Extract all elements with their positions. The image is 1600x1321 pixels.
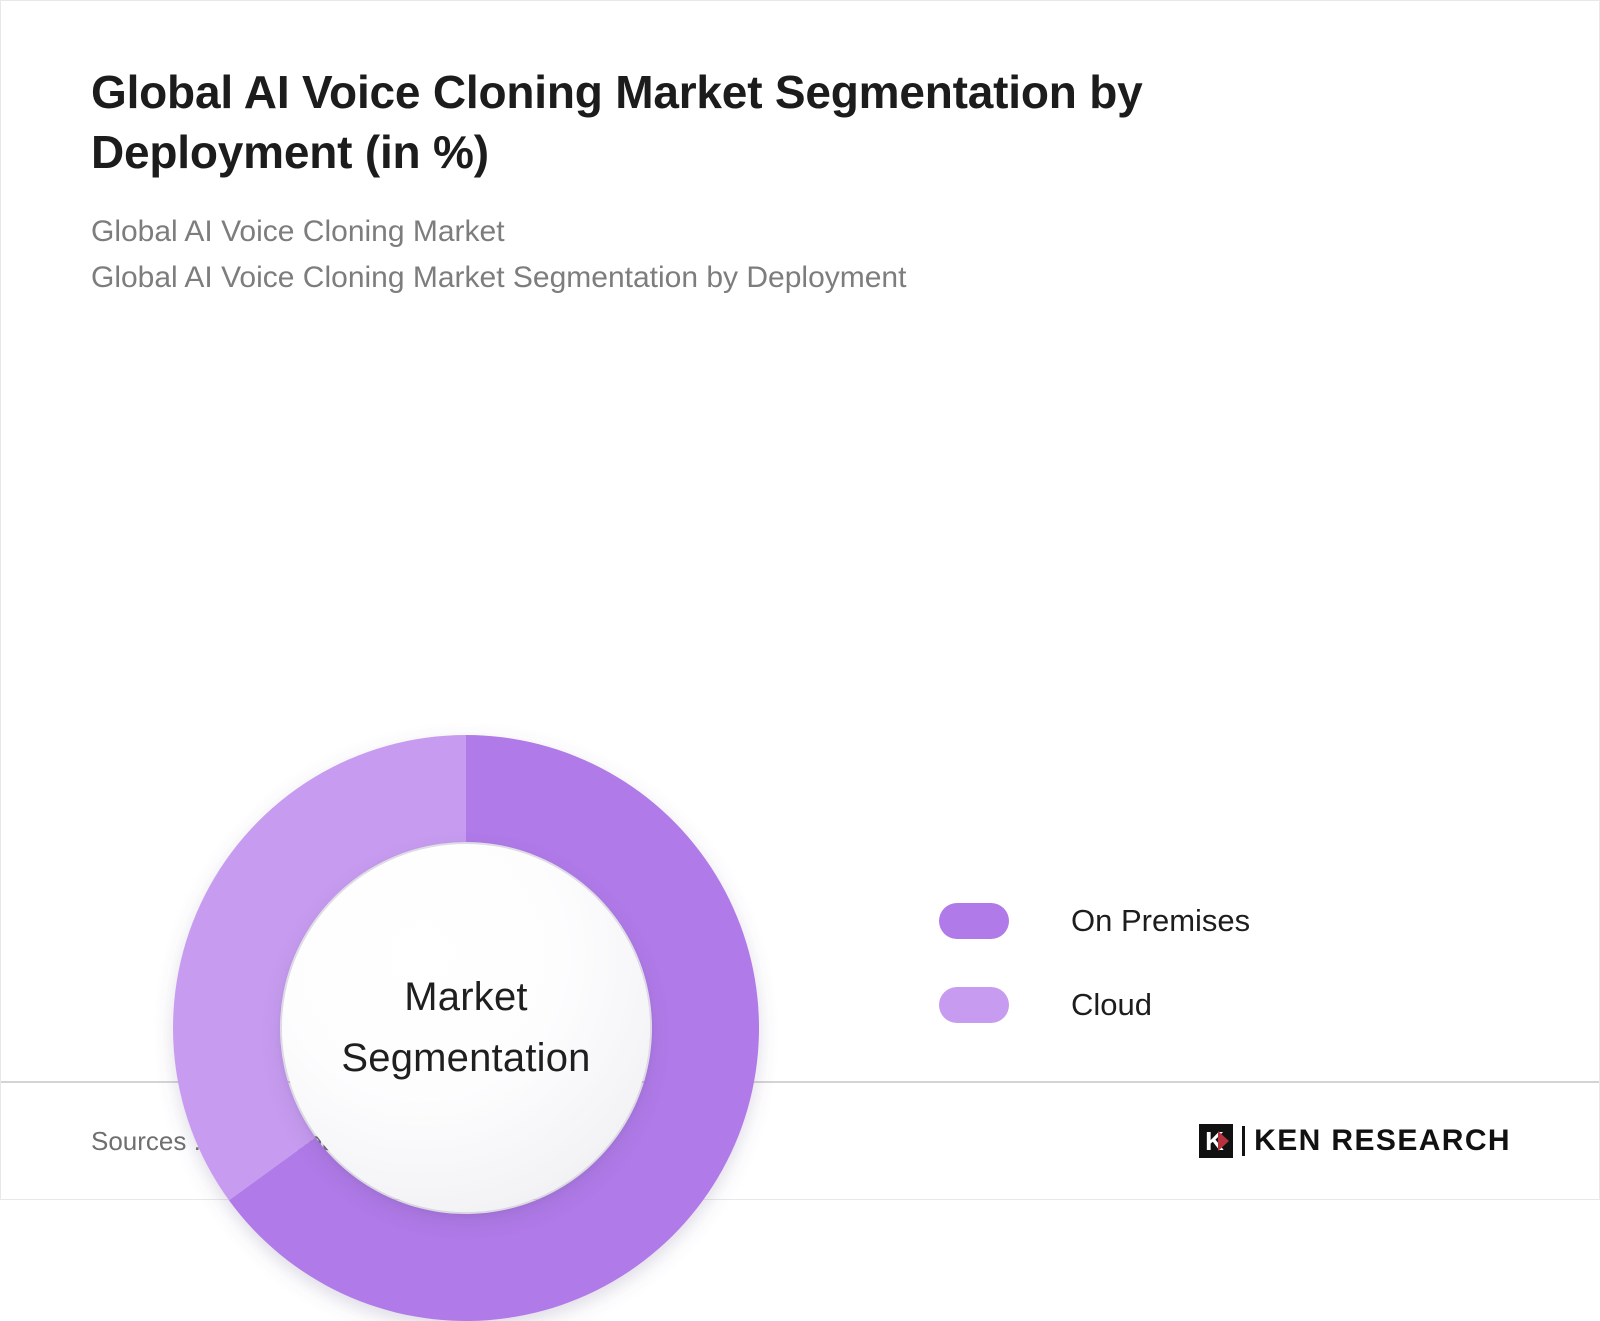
legend-label-cloud: Cloud <box>1071 987 1152 1023</box>
legend-label-on-premises: On Premises <box>1071 903 1250 939</box>
ken-research-logo: K KEN RESEARCH <box>1199 1124 1511 1158</box>
slide-page: Global AI Voice Cloning Market Segmentat… <box>0 0 1600 1200</box>
header: Global AI Voice Cloning Market Segmentat… <box>1 1 1599 302</box>
logo-accent-triangle-icon <box>1218 1131 1229 1151</box>
subtitle-block: Global AI Voice Cloning Market Global AI… <box>91 209 1509 302</box>
legend: On Premises Cloud <box>939 890 1250 1036</box>
donut-center-hub: Market Segmentation <box>282 844 650 1212</box>
legend-swatch-cloud <box>939 987 1009 1023</box>
subtitle-line-2: Global AI Voice Cloning Market Segmentat… <box>91 255 1509 302</box>
logo-wordmark: KEN RESEARCH <box>1254 1124 1511 1158</box>
legend-item-on-premises[interactable]: On Premises <box>939 890 1250 952</box>
legend-swatch-on-premises <box>939 903 1009 939</box>
chart-body: Market Segmentation On Premises Cloud <box>1 302 1599 1081</box>
logo-k-mark-icon: K <box>1199 1124 1233 1158</box>
subtitle-line-1: Global AI Voice Cloning Market <box>91 209 1509 256</box>
center-label-line-2: Segmentation <box>341 1028 590 1089</box>
logo-divider <box>1242 1126 1245 1156</box>
page-title: Global AI Voice Cloning Market Segmentat… <box>91 63 1291 183</box>
center-label-line-1: Market <box>404 967 527 1028</box>
donut-chart: Market Segmentation <box>173 735 759 1321</box>
legend-item-cloud[interactable]: Cloud <box>939 974 1250 1036</box>
